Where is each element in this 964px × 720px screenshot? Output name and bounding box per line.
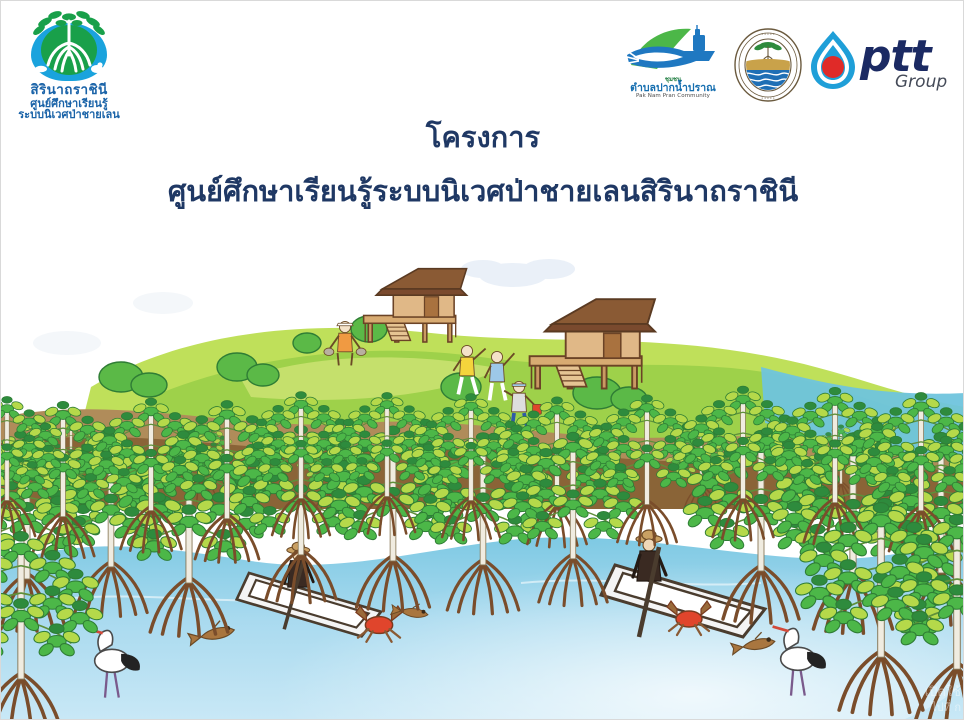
- ptt-group-subtext: Group: [895, 72, 947, 92]
- dmcr-government-seal: ⋄ ⋄ ⋄ ⋄ ⋄ ⋄ ⋄ ⋄ ⋄ ⋄: [734, 28, 802, 102]
- pak-nam-pran-logo-mark: [623, 25, 723, 77]
- ptt-group-logo: ptt Group: [807, 29, 955, 99]
- svg-text:⋄ ⋄ ⋄ ⋄ ⋄: ⋄ ⋄ ⋄ ⋄ ⋄: [761, 96, 774, 100]
- sirinart-logo-text: สิรินาถราชินี ศูนย์ศึกษาเรียนรู้ ระบบนิเ…: [15, 83, 123, 121]
- pak-nam-pran-community-logo: ชุมชน ตำบลปากน้ำปราณ Pak Nam Pran Commun…: [623, 25, 723, 103]
- sirinart-mangrove-center-logo: สิรินาถราชินี ศูนย์ศึกษาเรียนรู้ ระบบนิเ…: [15, 7, 123, 123]
- slide-title-block: โครงการ ศูนย์ศึกษาเรียนรู้ระบบนิเวศป่าชา…: [1, 119, 964, 210]
- slide-title-line-2: ศูนย์ศึกษาเรียนรู้ระบบนิเวศป่าชายเลนสิริ…: [1, 173, 964, 209]
- pak-nam-pran-logo-text: ชุมชน ตำบลปากน้ำปราณ Pak Nam Pran Commun…: [623, 77, 723, 100]
- ptt-flame-droplet-icon: [807, 29, 859, 93]
- mangrove-scene-svg: [1, 247, 964, 720]
- mangrove-forest-illustration: เปิดใช้ ไปที่ ก: [1, 247, 964, 720]
- fishing-boat-bird-icon: [623, 25, 723, 77]
- sirinart-logo-line-1: สิรินาถราชินี: [15, 83, 123, 98]
- presentation-slide: สิรินาถราชินี ศูนย์ศึกษาเรียนรู้ ระบบนิเ…: [0, 0, 964, 720]
- sirinart-logo-tree-icon: [15, 7, 123, 85]
- slide-header: สิรินาถราชินี ศูนย์ศึกษาเรียนรู้ ระบบนิเ…: [1, 1, 964, 247]
- pak-nam-pran-line-3: Pak Nam Pran Community: [623, 94, 723, 100]
- slide-title-line-1: โครงการ: [1, 119, 964, 155]
- dmcr-seal-icon: ⋄ ⋄ ⋄ ⋄ ⋄ ⋄ ⋄ ⋄ ⋄ ⋄: [734, 28, 802, 102]
- sirinart-logo-mark: [15, 7, 123, 85]
- svg-text:⋄ ⋄ ⋄ ⋄ ⋄: ⋄ ⋄ ⋄ ⋄ ⋄: [761, 32, 774, 36]
